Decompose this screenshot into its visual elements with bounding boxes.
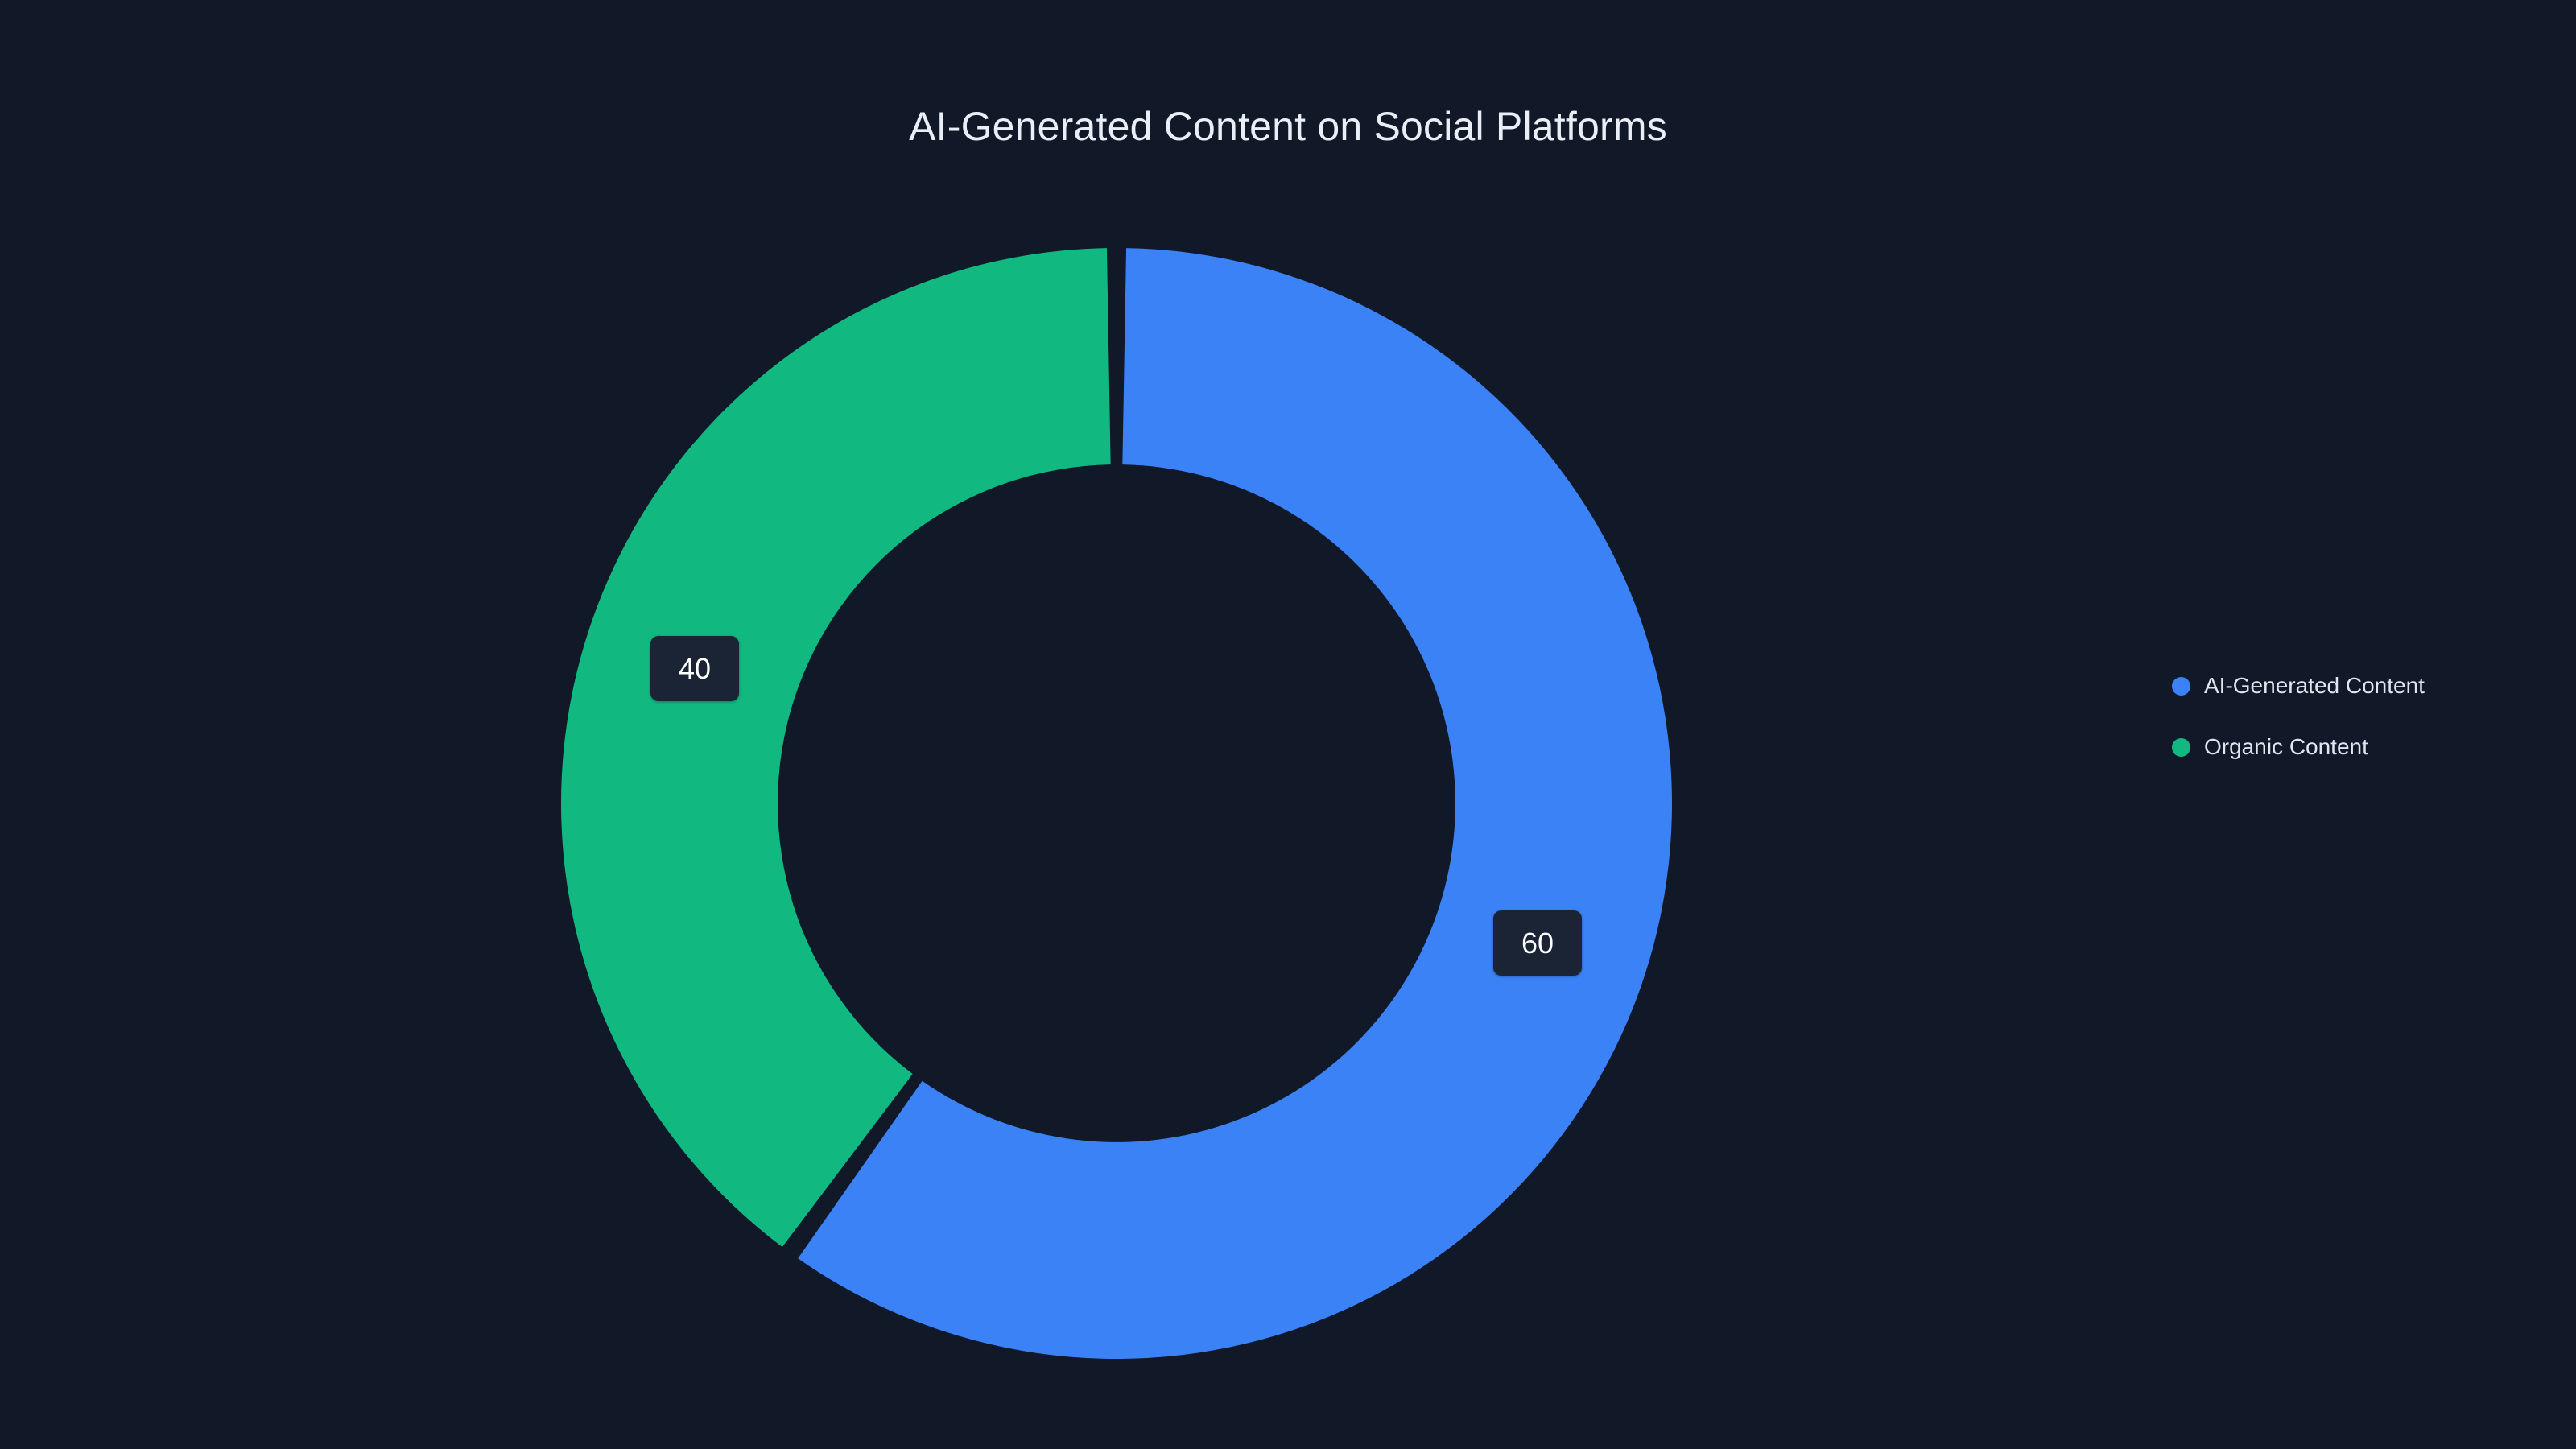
legend-item-label: Organic Content [2204, 736, 2368, 758]
chart-canvas: AI-Generated Content on Social Platforms… [0, 0, 2576, 1449]
legend-item-organic-content[interactable]: Organic Content [2172, 736, 2425, 758]
legend-dot-icon [2172, 738, 2190, 757]
plot-area: 40 60 [0, 0, 2093, 1449]
legend-item-label: AI-Generated Content [2204, 675, 2425, 697]
data-label-organic: 40 [650, 636, 739, 701]
legend-item-ai-generated-content[interactable]: AI-Generated Content [2172, 675, 2425, 697]
data-label-organic-value: 40 [679, 654, 711, 683]
donut-slice-group [561, 248, 1672, 1359]
donut-chart [561, 248, 1672, 1359]
data-label-ai-generated-value: 60 [1521, 929, 1554, 958]
chart-legend: AI-Generated Content Organic Content [2172, 675, 2425, 758]
legend-dot-icon [2172, 677, 2190, 696]
donut-slice-organic-content[interactable] [561, 248, 1111, 1247]
data-label-ai-generated: 60 [1493, 910, 1582, 976]
